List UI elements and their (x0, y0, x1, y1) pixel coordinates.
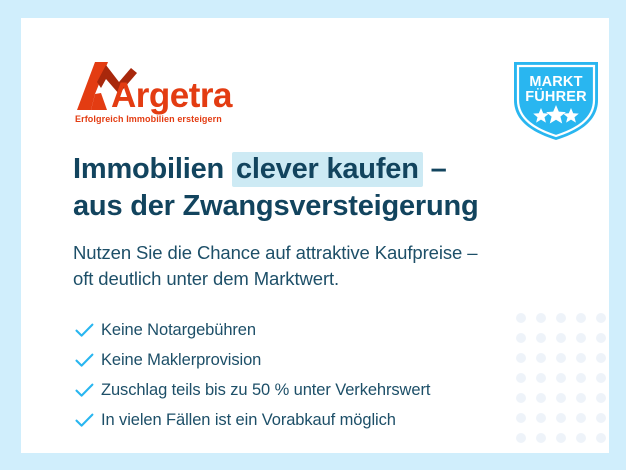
list-item: Keine Notargebühren (75, 315, 545, 345)
list-item: In vielen Fällen ist ein Vorabkauf mögli… (75, 405, 545, 435)
subtitle-line2: oft deutlich unter dem Marktwert. (73, 268, 339, 289)
headline-highlight: clever kaufen (232, 152, 423, 187)
list-item-label: In vielen Fällen ist ein Vorabkauf mögli… (101, 411, 396, 430)
decorative-dot (576, 433, 586, 443)
logo-tagline: Erfolgreich Immobilien ersteigern (75, 114, 222, 124)
decorative-dot (596, 313, 606, 323)
benefits-list: Keine NotargebührenKeine Maklerprovision… (75, 315, 545, 435)
decorative-dot (556, 333, 566, 343)
list-item: Zuschlag teils bis zu 50 % unter Verkehr… (75, 375, 545, 405)
decorative-dot (556, 413, 566, 423)
markt-fuehrer-badge: MARKT FÜHRER (508, 56, 604, 142)
decorative-dot (596, 373, 606, 383)
check-icon (75, 353, 101, 368)
subtitle: Nutzen Sie die Chance auf attraktive Kau… (73, 240, 573, 293)
page-title: Immobilien clever kaufen – aus der Zwang… (73, 151, 573, 225)
check-icon (75, 323, 101, 338)
check-icon (75, 383, 101, 398)
decorative-dot (556, 313, 566, 323)
decorative-dot (596, 433, 606, 443)
list-item-label: Zuschlag teils bis zu 50 % unter Verkehr… (101, 381, 430, 400)
argetra-logo[interactable]: Argetra Erfolgreich Immobilien ersteiger… (75, 60, 275, 132)
decorative-dot (576, 313, 586, 323)
badge-line-1: MARKT (508, 75, 604, 90)
list-item: Keine Maklerprovision (75, 345, 545, 375)
decorative-dot (596, 393, 606, 403)
list-item-label: Keine Notargebühren (101, 321, 256, 340)
headline-line2: aus der Zwangsversteigerung (73, 190, 479, 222)
badge-line-2: FÜHRER (508, 90, 604, 105)
decorative-dot (576, 393, 586, 403)
logo-wordmark: Argetra (111, 78, 232, 113)
decorative-dot (576, 373, 586, 383)
check-icon (75, 413, 101, 428)
decorative-dot (556, 353, 566, 363)
decorative-dot (596, 353, 606, 363)
decorative-dot (596, 413, 606, 423)
headline-line1-before: Immobilien (73, 153, 232, 185)
headline-line1-after: – (423, 153, 447, 185)
decorative-dot (576, 413, 586, 423)
subtitle-line1: Nutzen Sie die Chance auf attraktive Kau… (73, 242, 477, 263)
content-card: Argetra Erfolgreich Immobilien ersteiger… (21, 18, 609, 453)
promo-banner: Argetra Erfolgreich Immobilien ersteiger… (0, 0, 626, 470)
decorative-dot (576, 353, 586, 363)
decorative-dot (596, 333, 606, 343)
list-item-label: Keine Maklerprovision (101, 351, 261, 370)
decorative-dot (556, 393, 566, 403)
decorative-dot (576, 333, 586, 343)
decorative-dot (556, 373, 566, 383)
decorative-dot (556, 433, 566, 443)
